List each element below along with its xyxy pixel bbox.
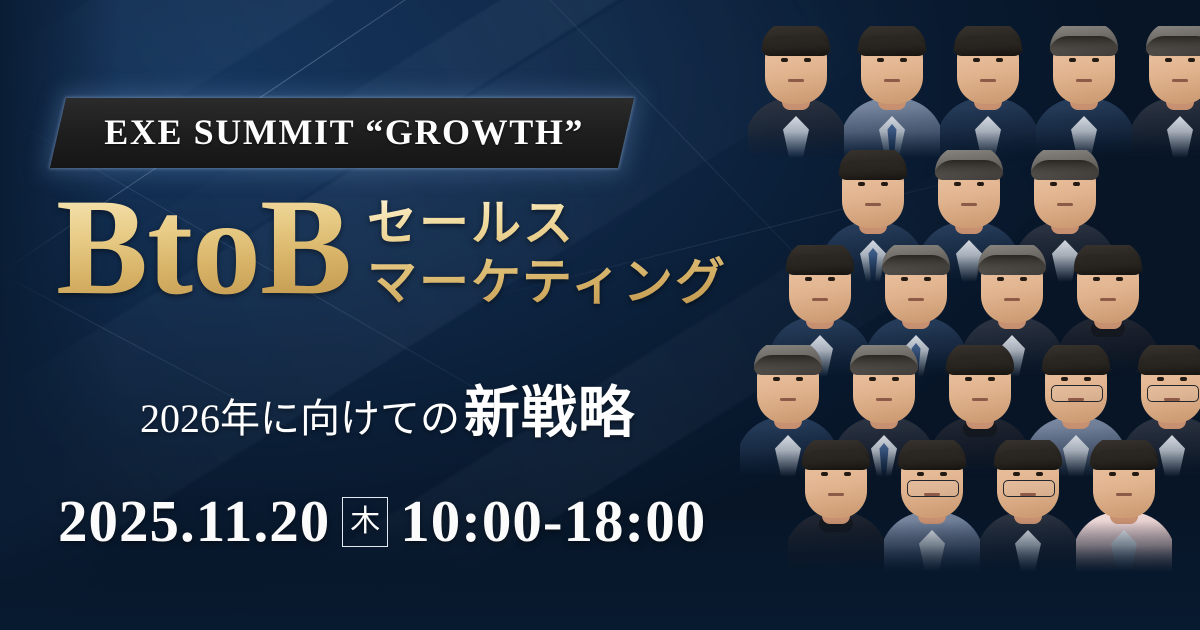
- portrait-eye: [1109, 472, 1116, 476]
- portrait-eye: [869, 377, 876, 381]
- portrait-eye: [1036, 472, 1043, 476]
- portrait-hair: [1074, 245, 1142, 275]
- portrait-mouth: [1068, 398, 1084, 401]
- speaker-portrait: [1076, 440, 1172, 572]
- portrait-mouth: [1057, 203, 1073, 206]
- portrait-eye: [805, 277, 812, 281]
- portrait-eye: [1165, 58, 1172, 62]
- event-time: 10:00-18:00: [400, 487, 706, 556]
- event-datetime: 2025.11.20 木 10:00-18:00: [58, 487, 706, 556]
- portrait-eye: [988, 377, 995, 381]
- portrait-eye: [796, 377, 803, 381]
- portrait-eye: [773, 377, 780, 381]
- portrait-hair: [882, 245, 950, 275]
- event-title: BtoB セールス マーケティング: [56, 178, 727, 316]
- portrait-mouth: [1100, 298, 1116, 301]
- event-day-of-week-badge: 木: [342, 497, 388, 547]
- speaker-row: [788, 440, 1172, 572]
- portrait-hair: [858, 26, 926, 56]
- subtitle-big: 新戦略: [464, 368, 635, 449]
- portrait-eye: [858, 182, 865, 186]
- portrait-eye: [1069, 58, 1076, 62]
- portrait-hair: [935, 150, 1003, 180]
- title-btob: BtoB: [56, 178, 351, 316]
- portrait-eye: [1188, 58, 1195, 62]
- event-badge-shape: EXE SUMMIT “GROWTH”: [50, 98, 634, 168]
- portrait-mouth: [812, 298, 828, 301]
- portrait-hair: [1146, 26, 1200, 56]
- portrait-eye: [1073, 182, 1080, 186]
- portrait-hair: [898, 440, 966, 470]
- portrait-eye: [1020, 277, 1027, 281]
- portrait-eye: [781, 58, 788, 62]
- portrait-hair: [1090, 440, 1158, 470]
- portrait-hair: [839, 150, 907, 180]
- event-badge-label: EXE SUMMIT “GROWTH”: [104, 111, 584, 153]
- portrait-mouth: [1116, 493, 1132, 496]
- event-date: 2025.11.20: [58, 487, 330, 556]
- portrait-eye: [954, 182, 961, 186]
- speaker-portrait: [788, 440, 884, 572]
- event-poster: EXE SUMMIT “GROWTH” BtoB セールス マーケティング 20…: [0, 0, 1200, 630]
- portrait-mouth: [908, 298, 924, 301]
- portrait-mouth: [788, 79, 804, 82]
- portrait-eye: [1157, 377, 1164, 381]
- speaker-portrait: [940, 26, 1036, 158]
- portrait-mouth: [828, 493, 844, 496]
- portrait-eye: [877, 58, 884, 62]
- portrait-mouth: [780, 398, 796, 401]
- title-kana-line1: セールス: [367, 194, 727, 253]
- portrait-mouth: [876, 398, 892, 401]
- portrait-eye: [1061, 377, 1068, 381]
- portrait-eye: [1116, 277, 1123, 281]
- speaker-row: [748, 26, 1200, 158]
- portrait-eye: [821, 472, 828, 476]
- portrait-mouth: [884, 79, 900, 82]
- portrait-eye: [1084, 377, 1091, 381]
- portrait-eye: [804, 58, 811, 62]
- portrait-eye: [900, 58, 907, 62]
- portrait-mouth: [972, 398, 988, 401]
- speaker-portrait: [1036, 26, 1132, 158]
- portrait-hair: [1138, 345, 1200, 375]
- portrait-eye: [892, 377, 899, 381]
- portrait-mouth: [1164, 398, 1180, 401]
- portrait-eye: [917, 472, 924, 476]
- portrait-eye: [940, 472, 947, 476]
- portrait-mouth: [1172, 79, 1188, 82]
- portrait-mouth: [961, 203, 977, 206]
- portrait-hair: [978, 245, 1046, 275]
- title-kana-line2: マーケティング: [367, 253, 727, 312]
- portrait-hair: [1050, 26, 1118, 56]
- portrait-mouth: [1004, 298, 1020, 301]
- portrait-eye: [973, 58, 980, 62]
- portrait-hair: [1031, 150, 1099, 180]
- portrait-eye: [1180, 377, 1187, 381]
- portrait-eye: [965, 377, 972, 381]
- speaker-portrait: [1132, 26, 1200, 158]
- speaker-collage: [730, 0, 1200, 630]
- event-badge: EXE SUMMIT “GROWTH”: [58, 98, 626, 168]
- speaker-portrait: [980, 440, 1076, 572]
- portrait-mouth: [1020, 493, 1036, 496]
- poster-content: EXE SUMMIT “GROWTH” BtoB セールス マーケティング 20…: [0, 0, 770, 630]
- portrait-eye: [828, 277, 835, 281]
- portrait-eye: [1050, 182, 1057, 186]
- speaker-portrait: [844, 26, 940, 158]
- portrait-mouth: [980, 79, 996, 82]
- portrait-mouth: [1076, 79, 1092, 82]
- event-subtitle: 2026年に向けての 新戦略: [140, 368, 635, 449]
- portrait-eye: [881, 182, 888, 186]
- subtitle-small: 2026年に向けての: [140, 386, 460, 444]
- portrait-hair: [762, 26, 830, 56]
- portrait-hair: [954, 26, 1022, 56]
- portrait-eye: [1093, 277, 1100, 281]
- portrait-eye: [1092, 58, 1099, 62]
- portrait-hair: [994, 440, 1062, 470]
- portrait-eye: [844, 472, 851, 476]
- portrait-hair: [786, 245, 854, 275]
- portrait-eye: [901, 277, 908, 281]
- portrait-hair: [802, 440, 870, 470]
- portrait-mouth: [924, 493, 940, 496]
- portrait-hair: [946, 345, 1014, 375]
- portrait-eye: [977, 182, 984, 186]
- portrait-mouth: [865, 203, 881, 206]
- speaker-portrait: [884, 440, 980, 572]
- title-kana: セールス マーケティング: [367, 194, 727, 312]
- portrait-eye: [997, 277, 1004, 281]
- portrait-hair: [850, 345, 918, 375]
- portrait-eye: [996, 58, 1003, 62]
- portrait-eye: [1132, 472, 1139, 476]
- portrait-eye: [1013, 472, 1020, 476]
- portrait-hair: [1042, 345, 1110, 375]
- portrait-eye: [924, 277, 931, 281]
